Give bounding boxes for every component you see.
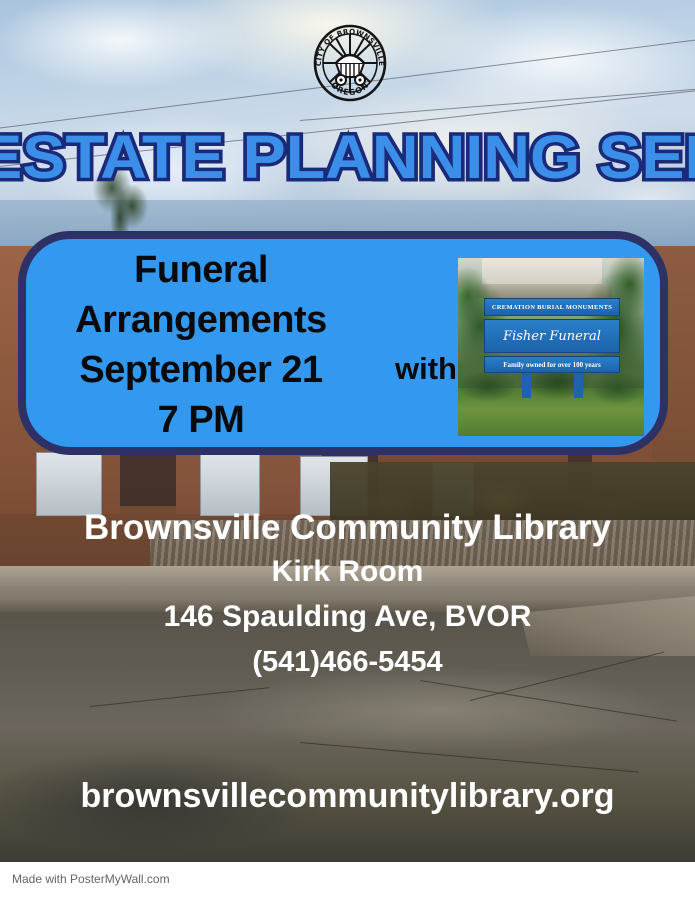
postermywall-credit[interactable]: Made with PosterMyWall.com — [12, 872, 170, 886]
sign-board-services: CREMATION BURIAL MONUMENTS — [484, 298, 620, 316]
city-of-brownsville-seal-icon: CITY OF BROWNSVILLE OREGON — [312, 23, 388, 103]
event-title-line-1: Funeral — [36, 245, 366, 295]
venue-name: Brownsville Community Library — [0, 505, 695, 550]
footer-bar: Made with PosterMyWall.com — [0, 862, 695, 900]
venue-room: Kirk Room — [0, 550, 695, 594]
fisher-funeral-home-photo: CREMATION BURIAL MONUMENTS Fisher Funera… — [458, 258, 644, 436]
event-title-line-2: Arrangements — [36, 295, 366, 345]
poster-canvas: CITY OF BROWNSVILLE OREGON ESTATE PLANNI… — [0, 0, 695, 862]
event-time: 7 PM — [36, 395, 366, 445]
event-details: Funeral Arrangements September 21 7 PM — [36, 245, 366, 445]
poster-headline: ESTATE PLANNING SERIES — [0, 122, 695, 192]
venue-address: 146 Spaulding Ave, BVOR — [0, 594, 695, 640]
library-website[interactable]: brownsvillecommunitylibrary.org — [0, 775, 695, 817]
event-callout-box: Funeral Arrangements September 21 7 PM w… — [18, 231, 668, 455]
sign-board-name: Fisher Funeral Home — [484, 319, 620, 353]
sign-board-tagline: Family owned for over 100 years — [484, 356, 620, 373]
venue-block: Brownsville Community Library Kirk Room … — [0, 505, 695, 684]
event-date: September 21 — [36, 345, 366, 395]
venue-phone: (541)466-5454 — [0, 640, 695, 684]
